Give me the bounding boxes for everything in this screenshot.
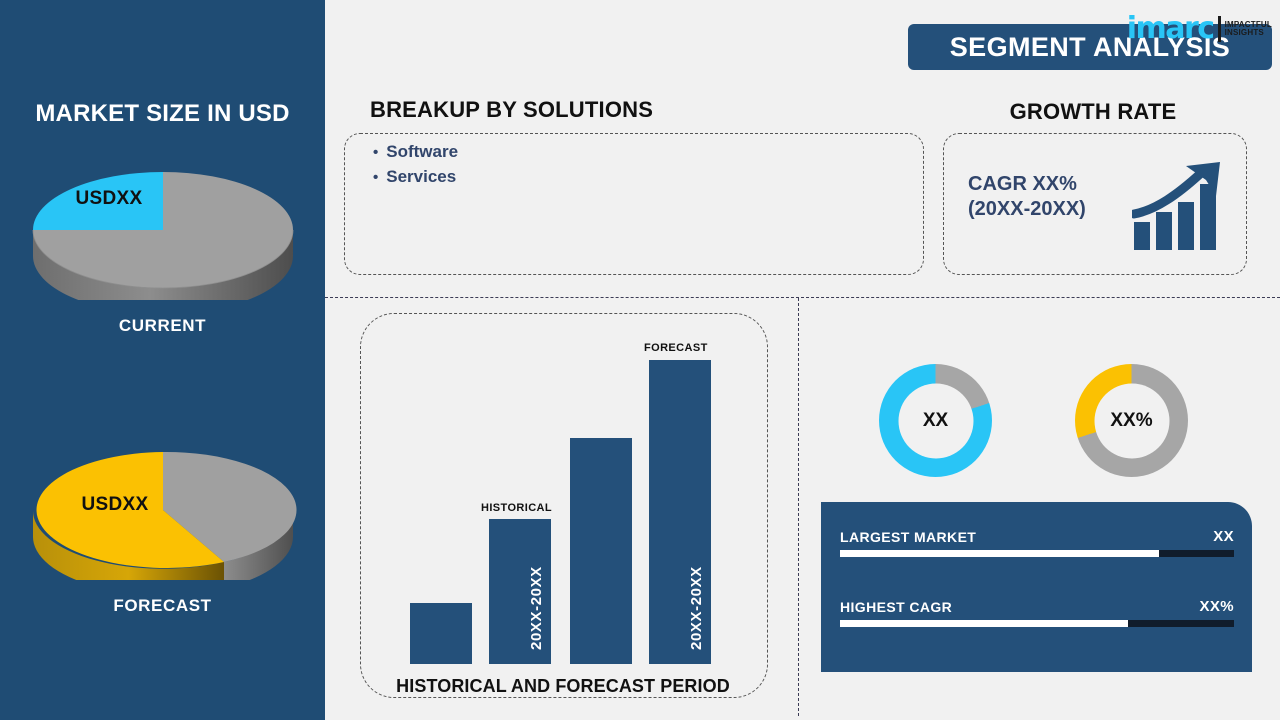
forecast-caption: FORECAST [644,342,708,354]
solutions-heading: BREAKUP BY SOLUTIONS [370,97,653,123]
bar-3 [570,438,632,664]
current-pie-label: CURRENT [0,316,325,336]
kpi-progress-fill [840,620,1128,627]
kpi-label: HIGHEST CAGR [840,599,952,615]
kpi-row-highest-cagr: HIGHEST CAGR XX% [840,598,1234,627]
bar-1 [410,603,472,664]
imarc-wordmark: imarc [1127,14,1214,44]
kpi-head: LARGEST MARKET XX [840,528,1234,545]
kpi-card: LARGEST MARKET XX HIGHEST CAGR XX% [821,502,1252,672]
kpi-value: XX [1213,528,1234,545]
historical-period-label: 20XX-20XX [528,566,545,650]
current-pie-chart: USDXX [28,160,298,300]
pie-3d-current-svg [28,160,298,300]
current-pie-block: USDXX CURRENT [0,160,325,336]
forecast-pie-block: USDXX FORECAST [0,440,325,616]
logo-divider-icon [1218,16,1221,42]
kpi-row-largest-market: LARGEST MARKET XX [840,528,1234,557]
kpi-progress-fill [840,550,1159,557]
horizontal-divider [325,297,1280,298]
solutions-card: • Software • Services [344,133,924,275]
list-item: • Services [373,167,458,187]
infographic-canvas: MARKET SIZE IN USD [0,0,1280,720]
kpi-label: LARGEST MARKET [840,529,976,545]
logo-tagline-line2: INSIGHTS [1225,29,1272,37]
imarc-logo: imarc IMPACTFUL INSIGHTS [1127,14,1272,44]
cagr-line-2: (20XX-20XX) [968,197,1086,222]
market-size-panel: MARKET SIZE IN USD [0,0,325,720]
growth-arrow-chart-icon [1132,160,1228,252]
growth-rate-heading: GROWTH RATE [943,99,1243,125]
kpi-progress-track [840,550,1234,557]
forecast-pie-label: FORECAST [0,596,325,616]
pie-3d-forecast-svg [28,440,298,580]
growth-rate-card: CAGR XX% (20XX-20XX) [943,133,1247,275]
largest-market-donut-value: XX [879,364,992,477]
forecast-period-label: 20XX-20XX [688,566,705,650]
bullet-icon: • [373,170,378,185]
kpi-head: HIGHEST CAGR XX% [840,598,1234,615]
solution-label: Services [386,167,456,187]
historical-forecast-chart-card: HISTORICAL 20XX-20XX FORECAST 20XX-20XX [360,313,768,698]
list-item: • Software [373,142,458,162]
market-size-title: MARKET SIZE IN USD [0,100,325,128]
vertical-divider [798,298,799,716]
cagr-text: CAGR XX% (20XX-20XX) [968,172,1086,222]
logo-tagline: IMPACTFUL INSIGHTS [1225,21,1272,38]
kpi-value: XX% [1199,598,1234,615]
solution-label: Software [386,142,458,162]
historical-caption: HISTORICAL [481,502,552,514]
bullet-icon: • [373,145,378,160]
forecast-pie-chart: USDXX [28,440,298,580]
highest-cagr-donut-value: XX% [1075,364,1188,477]
kpi-progress-track [840,620,1234,627]
solutions-list: • Software • Services [373,142,458,192]
cagr-line-1: CAGR XX% [968,172,1086,197]
chart-axis-label: HISTORICAL AND FORECAST PERIOD [360,676,766,697]
header-band: SEGMENT ANALYSIS imarc IMPACTFUL INSIGHT… [325,0,1280,90]
